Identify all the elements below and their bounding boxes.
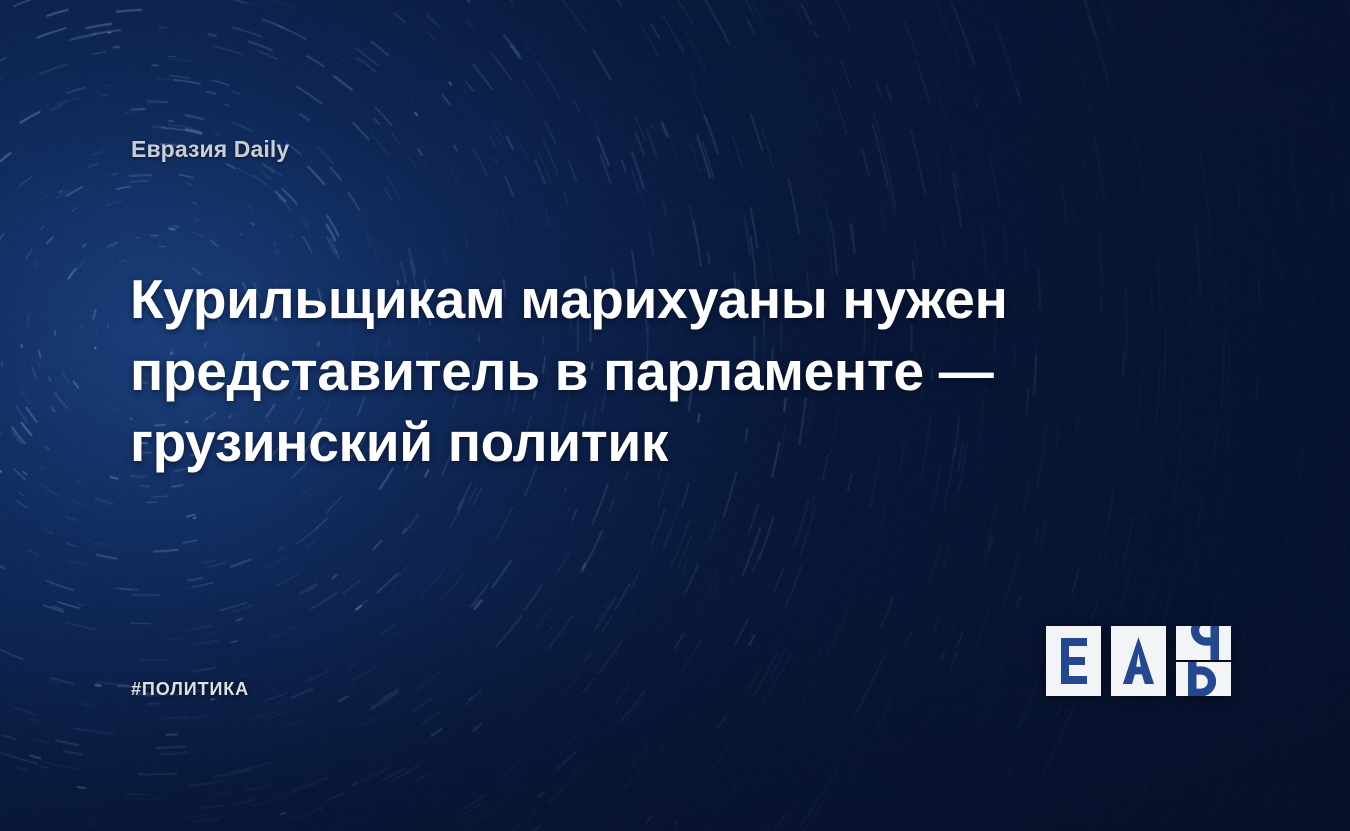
publication-masthead: Евразия Daily	[131, 136, 289, 163]
stacked-d-top-half-icon	[1176, 626, 1231, 660]
letter-e-tile-icon	[1046, 626, 1101, 696]
headline: Курильщикам марихуаны нужен представител…	[130, 264, 1030, 479]
headline-line-2: представитель в парламенте —	[130, 336, 1030, 408]
headline-line-3: грузинский политик	[130, 407, 1030, 479]
letter-a-tile-icon	[1111, 626, 1166, 696]
card-content: Евразия Daily Курильщикам марихуаны нуже…	[0, 0, 1350, 831]
stacked-d-bottom-half-icon	[1176, 662, 1231, 696]
headline-line-1: Курильщикам марихуаны нужен	[130, 264, 1030, 336]
category-tag[interactable]: #ПОЛИТИКА	[131, 679, 249, 700]
stacked-d-tile-icon	[1176, 626, 1231, 696]
news-share-card: Евразия Daily Курильщикам марихуаны нуже…	[0, 0, 1350, 831]
eadaily-logo[interactable]	[1046, 626, 1231, 696]
